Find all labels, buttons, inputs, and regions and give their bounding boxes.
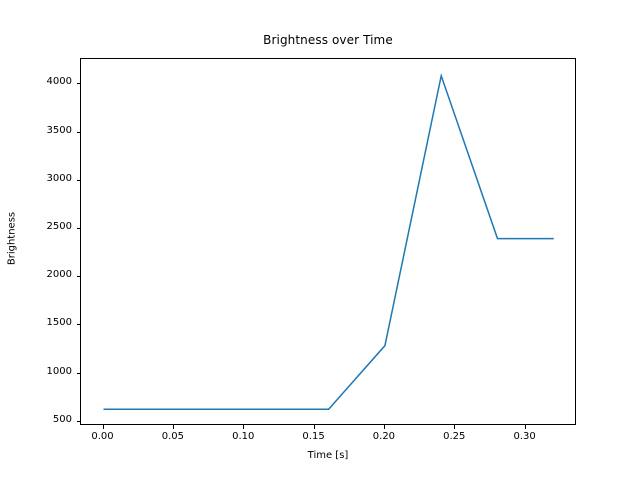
- plot-area: [80, 58, 576, 425]
- y-axis-label: Brightness: [7, 147, 18, 331]
- x-tick-label: 0.30: [495, 431, 555, 442]
- x-axis-label: Time [s]: [80, 450, 576, 461]
- matplotlib-figure: Brightness over Time 5001000150020002500…: [0, 0, 640, 480]
- x-tick-label: 0.10: [213, 431, 273, 442]
- y-axis-label-container: Brightness: [0, 58, 24, 425]
- chart-title: Brightness over Time: [8, 33, 640, 47]
- x-tick-label: 0.05: [143, 431, 203, 442]
- brightness-line: [104, 76, 554, 409]
- x-tick-label: 0.15: [284, 431, 344, 442]
- x-tick-label: 0.00: [73, 431, 133, 442]
- line-series-svg: [81, 59, 577, 426]
- x-tick-label: 0.20: [354, 431, 414, 442]
- x-tick-label: 0.25: [424, 431, 484, 442]
